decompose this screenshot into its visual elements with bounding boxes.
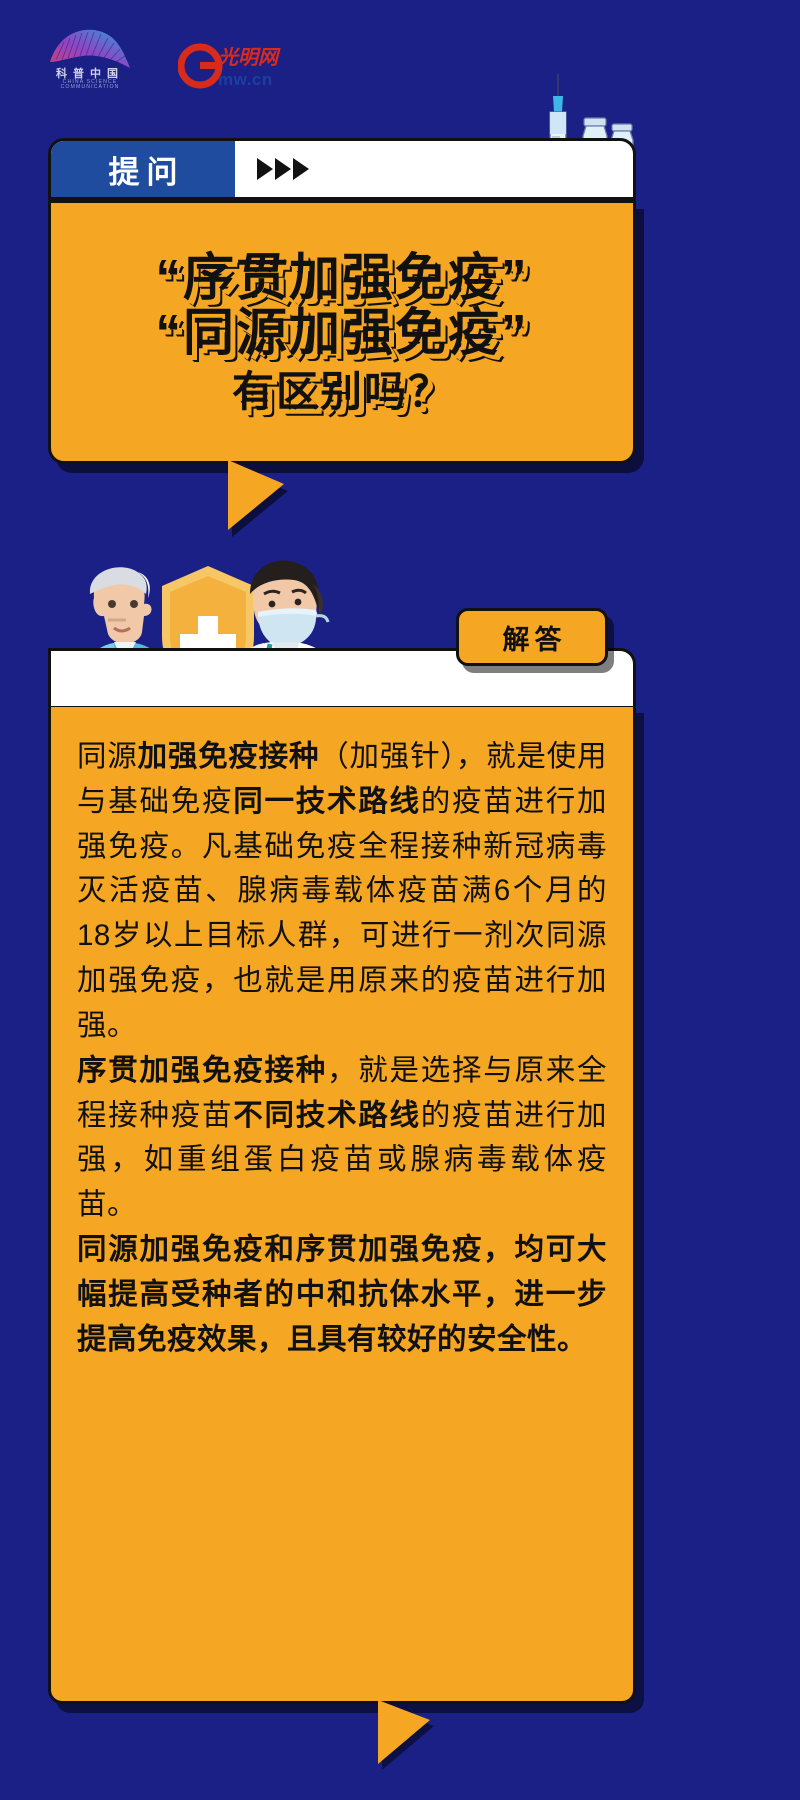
kepu-logo-en-text: CHINA SCIENCE COMMUNICATION [34,80,146,90]
answer-bubble-tail [378,1700,430,1764]
question-tag: 提问 [51,141,235,197]
title-bubble-tail [228,460,284,530]
answer-paragraph-1: 同源加强免疫接种（加强针），就是使用与基础免疫同一技术路线的疫苗进行加强免疫。凡… [77,735,607,1049]
answer-card: 同源加强免疫接种（加强针），就是使用与基础免疫同一技术路线的疫苗进行加强免疫。凡… [48,704,636,1704]
question-title-card: “序贯加强免疫” “同源加强免疫” 有区别吗？ [48,200,636,464]
title-line-1: “序贯加强免疫” [155,251,528,304]
gmw-logo-icon: 光明网 mw.cn [178,40,288,90]
question-banner: 提问 [48,138,636,200]
title-line-3: 有区别吗？ [232,370,452,414]
infographic-poster: 科普中国 CHINA SCIENCE COMMUNICATION 光明网 mw.… [0,0,800,1800]
svg-text:mw.cn: mw.cn [218,70,273,89]
answer-tag: 解答 [456,608,608,666]
guangming-online-logo: 光明网 mw.cn [178,40,288,90]
answer-paragraph-2: 序贯加强免疫接种，就是选择与原来全程接种疫苗不同技术路线的疫苗进行加强，如重组蛋… [77,1049,607,1228]
question-tag-label: 提问 [102,147,185,192]
kepu-wing-icon [48,28,132,70]
answer-tag-label: 解答 [498,618,567,657]
kepu-china-logo: 科普中国 CHINA SCIENCE COMMUNICATION [34,28,146,90]
answer-paragraph-3: 同源加强免疫和序贯加强免疫，均可大幅提高受种者的中和抗体水平，进一步提高免疫效果… [77,1228,607,1362]
title-line-2: “同源加强免疫” [155,306,528,359]
svg-text:光明网: 光明网 [217,46,281,69]
logo-row: 科普中国 CHINA SCIENCE COMMUNICATION 光明网 mw.… [34,28,288,90]
triple-right-arrow-icon [235,141,309,197]
